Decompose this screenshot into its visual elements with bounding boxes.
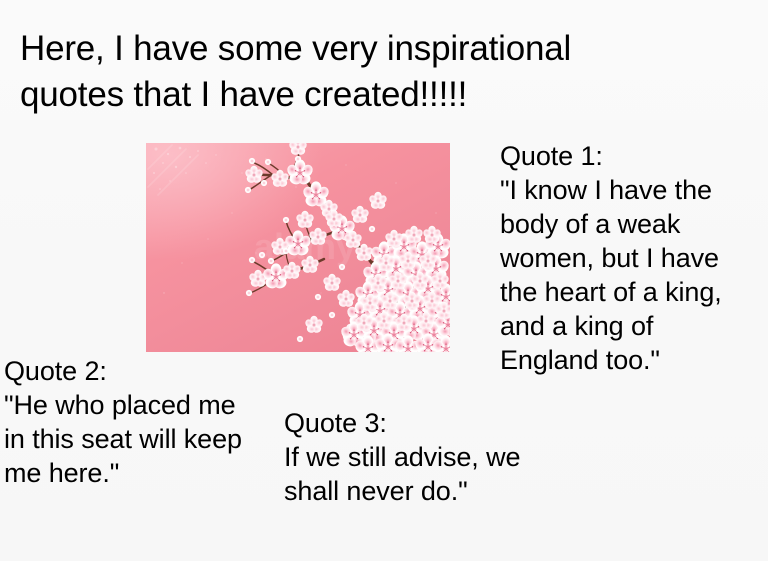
- quote-1-block: Quote 1: "I know I have the body of a we…: [500, 139, 752, 377]
- slide-canvas: Here, I have some very inspirational quo…: [0, 0, 768, 561]
- quote-1-label: Quote 1:: [500, 139, 752, 173]
- quote-3-text: If we still advise, we shall never do.": [284, 440, 524, 508]
- cherry-blossom-image[interactable]: alamy: [146, 143, 450, 352]
- quote-3-label: Quote 3:: [284, 406, 524, 440]
- cherry-blossom-illustration: alamy: [146, 143, 450, 352]
- quote-2-label: Quote 2:: [4, 354, 249, 388]
- page-title: Here, I have some very inspirational quo…: [20, 26, 720, 118]
- quote-2-text: "He who placed me in this seat will keep…: [4, 388, 249, 490]
- quote-2-block: Quote 2: "He who placed me in this seat …: [4, 354, 249, 490]
- quote-3-block: Quote 3: If we still advise, we shall ne…: [284, 406, 524, 508]
- quote-1-text: "I know I have the body of a weak women,…: [500, 173, 752, 377]
